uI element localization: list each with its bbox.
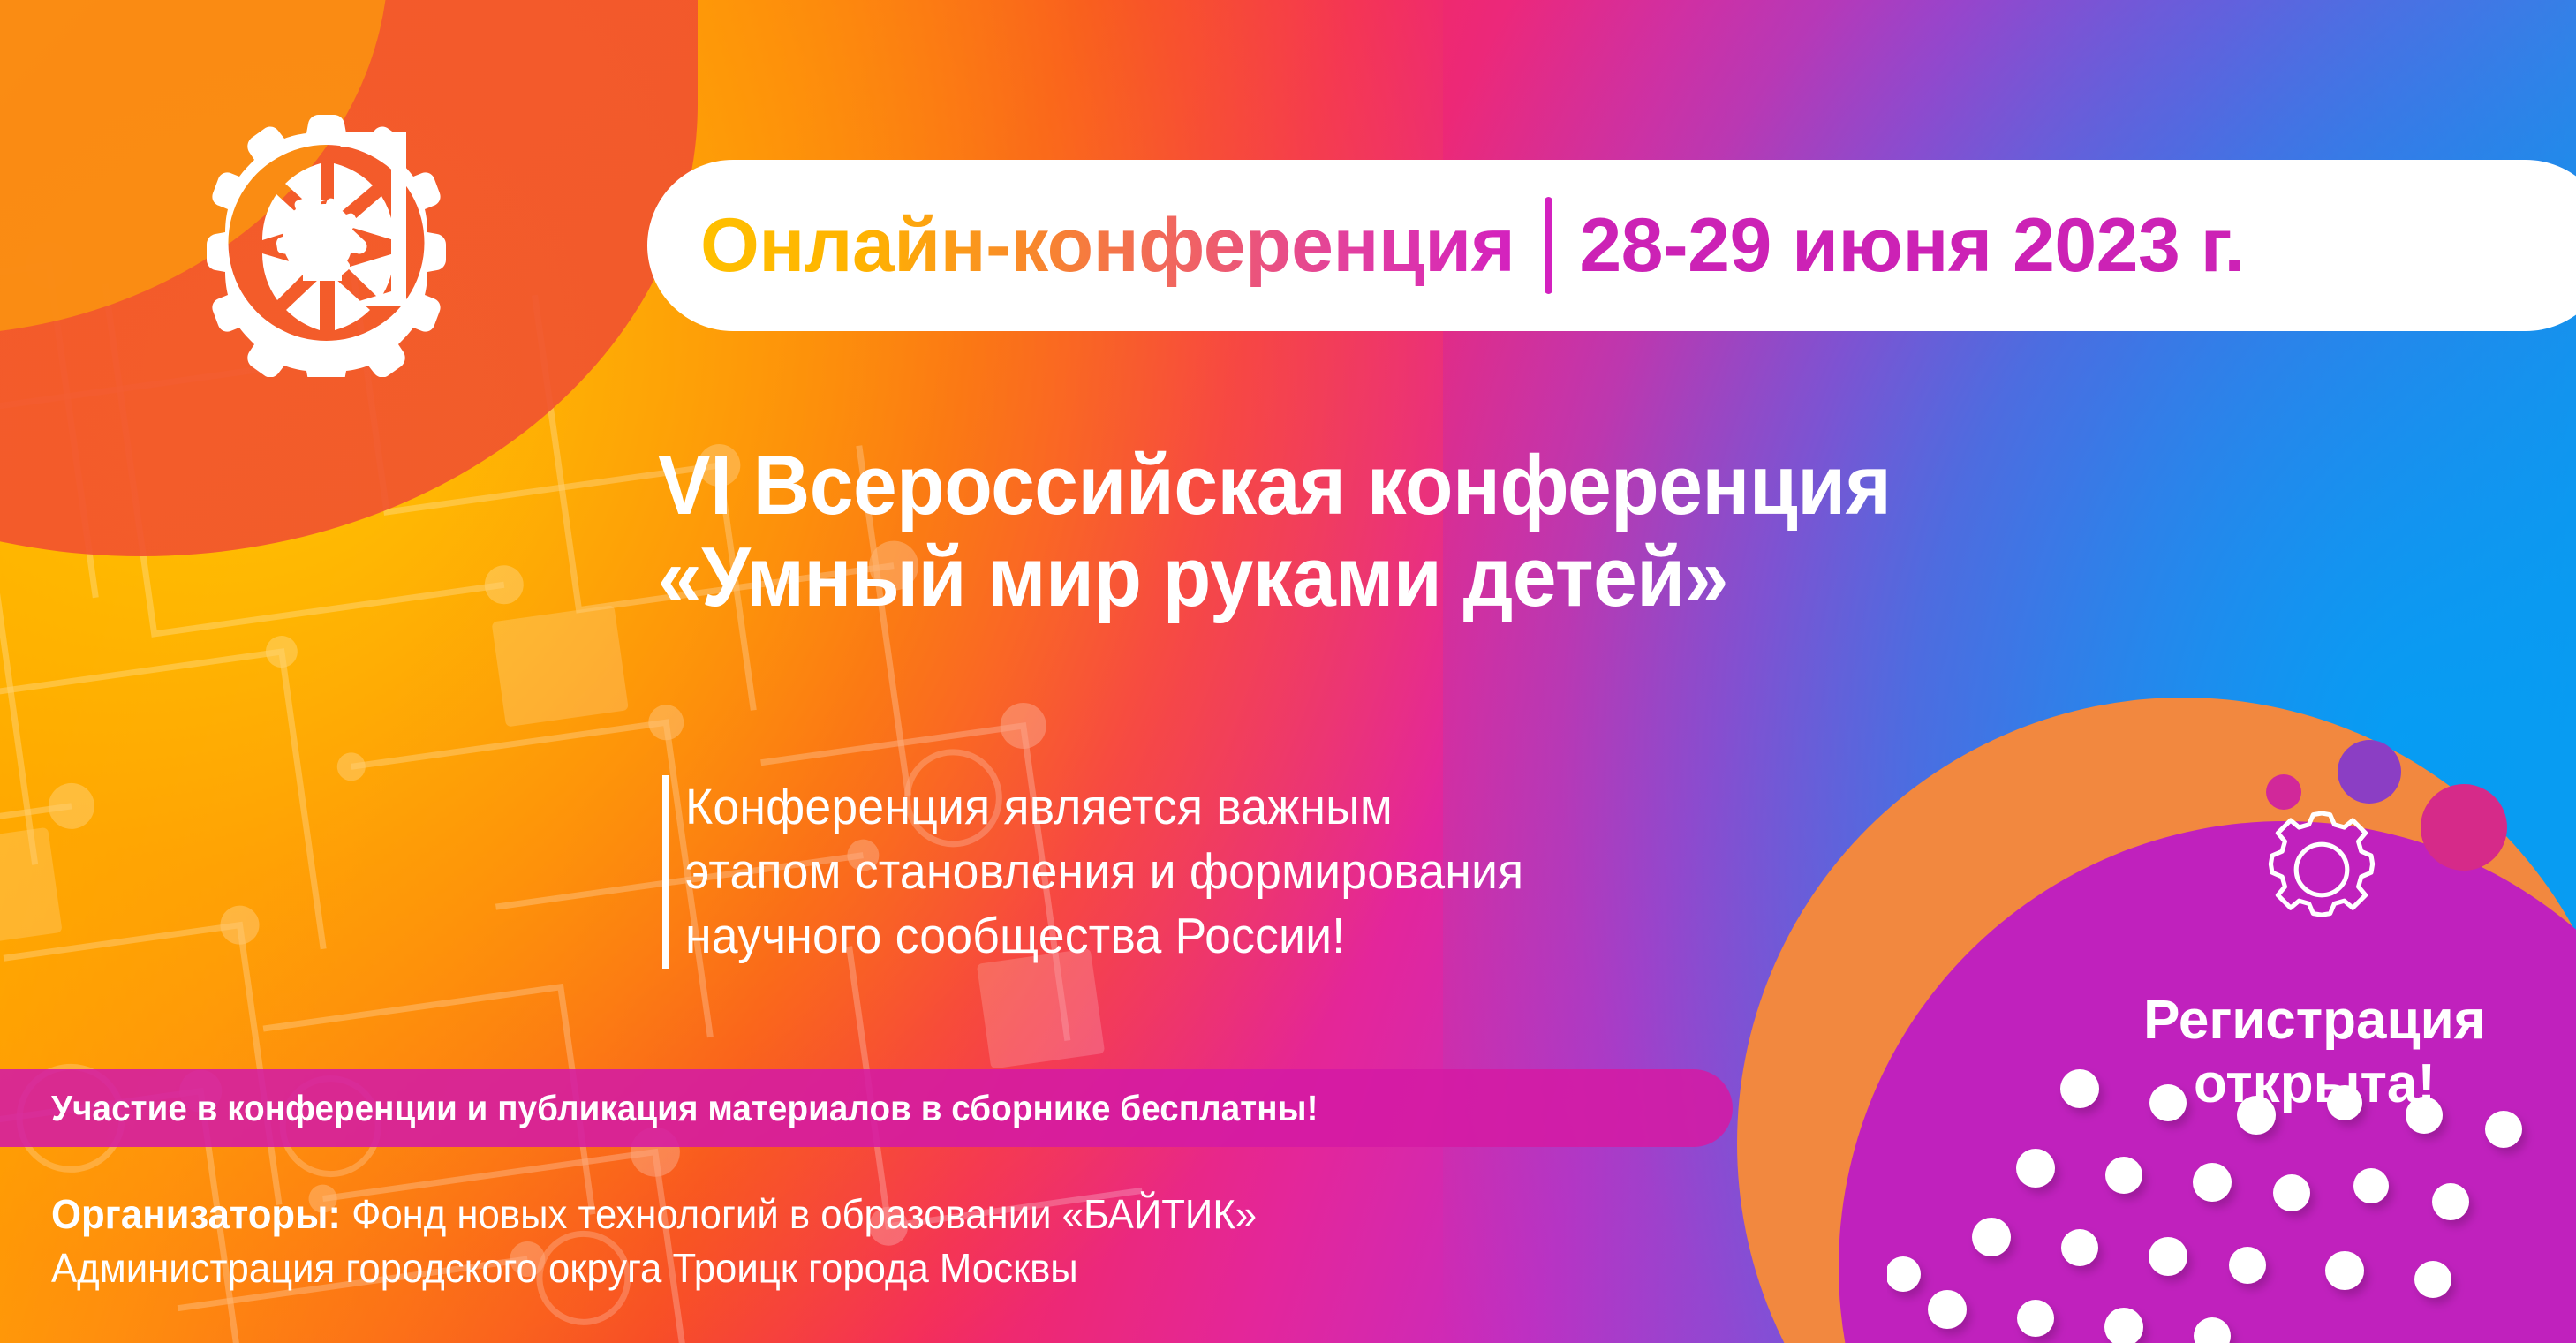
conference-date-label: 28-29 июня 2023 г. bbox=[1579, 202, 2245, 290]
description-line-1: Конференция является важным bbox=[685, 775, 1523, 840]
decorative-dot-purple bbox=[2338, 740, 2401, 804]
pill-divider bbox=[1545, 197, 1552, 294]
headline-line-1: VI Всероссийская конференция bbox=[658, 440, 2087, 532]
organizers-block: Организаторы: Фонд новых технологий в об… bbox=[51, 1188, 1257, 1294]
conference-date-pill: Онлайн-конференция 28-29 июня 2023 г. bbox=[647, 160, 2576, 331]
description-accent-bar bbox=[662, 775, 669, 969]
gear-house-logo-icon bbox=[188, 108, 457, 377]
free-participation-strip: Участие в конференции и публикация матер… bbox=[0, 1069, 1733, 1147]
registration-line-1: Регистрация bbox=[2085, 989, 2544, 1053]
description-line-3: научного сообщества России! bbox=[685, 904, 1523, 969]
conference-banner: Онлайн-конференция 28-29 июня 2023 г. VI… bbox=[0, 0, 2576, 1343]
gear-outline-icon bbox=[2251, 799, 2392, 940]
conference-type-label: Онлайн-конференция bbox=[700, 202, 1515, 290]
description-line-2: этапом становления и формирования bbox=[685, 840, 1523, 904]
description-block: Конференция является важным этапом стано… bbox=[662, 775, 1577, 969]
organizers-label: Организаторы: bbox=[51, 1191, 341, 1237]
decorative-dot-pink-large bbox=[2421, 784, 2507, 871]
page-title: VI Всероссийская конференция «Умный мир … bbox=[658, 440, 2087, 622]
headline-line-2: «Умный мир руками детей» bbox=[658, 532, 2087, 623]
description-text: Конференция является важным этапом стано… bbox=[685, 775, 1523, 969]
organizers-line-2: Администрация городского округа Троицк г… bbox=[51, 1241, 1257, 1295]
registration-line-2: открыта! bbox=[2085, 1053, 2544, 1116]
free-participation-label: Участие в конференции и публикация матер… bbox=[51, 1088, 1318, 1129]
registration-status-badge: Регистрация открыта! bbox=[2085, 989, 2544, 1116]
organizers-value: Фонд новых технологий в образовании «БАЙ… bbox=[341, 1191, 1257, 1237]
